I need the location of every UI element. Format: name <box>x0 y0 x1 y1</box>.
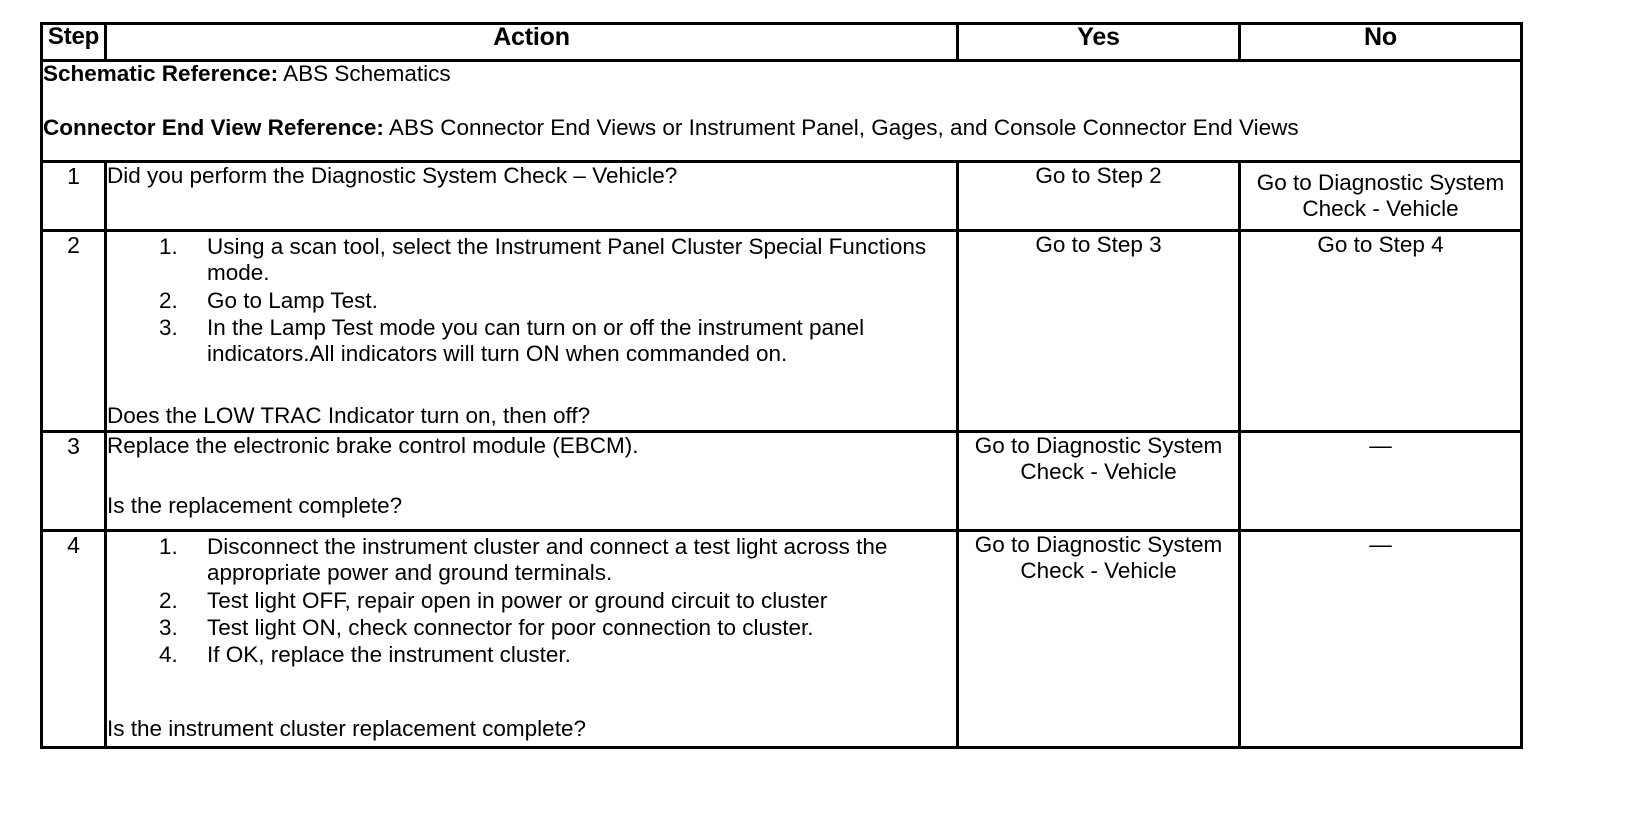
action-question-text: Does the LOW TRAC Indicator turn on, the… <box>107 403 956 429</box>
action-cell: Replace the electronic brake control mod… <box>106 432 958 531</box>
no-cell: — <box>1240 432 1522 531</box>
no-cell: Go to Step 4 <box>1240 231 1522 432</box>
list-item: 1.Using a scan tool, select the Instrume… <box>107 234 956 287</box>
table-header-row: Step Action Yes No <box>42 24 1522 61</box>
connector-reference-line: Connector End View Reference: ABS Connec… <box>43 116 1520 140</box>
action-cell: Did you perform the Diagnostic System Ch… <box>106 162 958 231</box>
schematic-reference-line: Schematic Reference: ABS Schematics <box>43 62 1520 86</box>
column-header-step: Step <box>42 24 106 61</box>
schematic-reference-value: ABS Schematics <box>278 61 451 86</box>
no-line-2: Check - Vehicle <box>1241 196 1520 222</box>
yes-cell: Go to Diagnostic System Check - Vehicle <box>958 531 1240 748</box>
action-step-list: 1.Disconnect the instrument cluster and … <box>107 534 956 669</box>
action-spacer <box>107 459 956 493</box>
yes-line-2: Check - Vehicle <box>959 459 1238 485</box>
list-item: 4.If OK, replace the instrument cluster. <box>107 642 956 668</box>
action-cell: 1.Using a scan tool, select the Instrume… <box>106 231 958 432</box>
action-spacer <box>107 369 956 403</box>
table-row: 4 1.Disconnect the instrument cluster an… <box>42 531 1522 748</box>
reference-spacer <box>43 86 1520 116</box>
list-item-text: If OK, replace the instrument cluster. <box>207 642 571 667</box>
step-number: 2 <box>42 231 106 432</box>
action-lead-text: Did you perform the Diagnostic System Ch… <box>107 163 956 189</box>
yes-line-1: Go to Diagnostic System <box>959 532 1238 558</box>
document-page: Step Action Yes No Schematic Reference: … <box>0 0 1632 834</box>
step-number: 4 <box>42 531 106 748</box>
action-cell: 1.Disconnect the instrument cluster and … <box>106 531 958 748</box>
action-spacer <box>107 670 956 716</box>
table-row: 1 Did you perform the Diagnostic System … <box>42 162 1522 231</box>
step-number: 3 <box>42 432 106 531</box>
yes-cell: Go to Step 3 <box>958 231 1240 432</box>
list-item-number: 1. <box>159 534 193 560</box>
list-item-number: 3. <box>159 315 193 341</box>
yes-cell: Go to Diagnostic System Check - Vehicle <box>958 432 1240 531</box>
step-number: 1 <box>42 162 106 231</box>
no-line-1: Go to Diagnostic System <box>1241 170 1520 196</box>
connector-reference-label: Connector End View Reference: <box>43 115 384 140</box>
action-question-text: Is the instrument cluster replacement co… <box>107 716 956 742</box>
list-item-text: Using a scan tool, select the Instrument… <box>207 234 926 285</box>
no-line-1: Go to Step 4 <box>1241 232 1520 258</box>
yes-line-1: Go to Step 3 <box>959 232 1238 258</box>
list-item: 1.Disconnect the instrument cluster and … <box>107 534 956 587</box>
schematic-reference-label: Schematic Reference: <box>43 61 278 86</box>
list-item-number: 2. <box>159 288 193 314</box>
action-step-list: 1.Using a scan tool, select the Instrume… <box>107 234 956 368</box>
list-item: 3.In the Lamp Test mode you can turn on … <box>107 315 956 368</box>
list-item: 2.Test light OFF, repair open in power o… <box>107 588 956 614</box>
no-line-1: — <box>1241 433 1520 459</box>
list-item-number: 3. <box>159 615 193 641</box>
list-item-number: 4. <box>159 642 193 668</box>
column-header-no: No <box>1240 24 1522 61</box>
column-header-action: Action <box>106 24 958 61</box>
yes-cell: Go to Step 2 <box>958 162 1240 231</box>
list-item-text: In the Lamp Test mode you can turn on or… <box>207 315 864 366</box>
list-item-text: Test light OFF, repair open in power or … <box>207 588 827 613</box>
connector-reference-value: ABS Connector End Views or Instrument Pa… <box>384 115 1299 140</box>
list-item-number: 2. <box>159 588 193 614</box>
list-item-number: 1. <box>159 234 193 260</box>
no-cell: — <box>1240 531 1522 748</box>
column-header-yes: Yes <box>958 24 1240 61</box>
yes-line-2: Check - Vehicle <box>959 558 1238 584</box>
no-line-1: — <box>1241 532 1520 558</box>
no-cell: Go to Diagnostic System Check - Vehicle <box>1240 162 1522 231</box>
list-item-text: Test light ON, check connector for poor … <box>207 615 814 640</box>
action-question-text: Is the replacement complete? <box>107 493 956 519</box>
table-row: 2 1.Using a scan tool, select the Instru… <box>42 231 1522 432</box>
diagnostic-procedure-table: Step Action Yes No Schematic Reference: … <box>40 22 1523 749</box>
list-item: 3.Test light ON, check connector for poo… <box>107 615 956 641</box>
table-row: 3 Replace the electronic brake control m… <box>42 432 1522 531</box>
list-item-text: Disconnect the instrument cluster and co… <box>207 534 887 585</box>
reference-cell: Schematic Reference: ABS Schematics Conn… <box>42 61 1522 162</box>
yes-line-1: Go to Step 2 <box>959 163 1238 189</box>
yes-line-1: Go to Diagnostic System <box>959 433 1238 459</box>
reference-row: Schematic Reference: ABS Schematics Conn… <box>42 61 1522 162</box>
action-lead-text: Replace the electronic brake control mod… <box>107 433 956 459</box>
list-item: 2.Go to Lamp Test. <box>107 288 956 314</box>
list-item-text: Go to Lamp Test. <box>207 288 378 313</box>
